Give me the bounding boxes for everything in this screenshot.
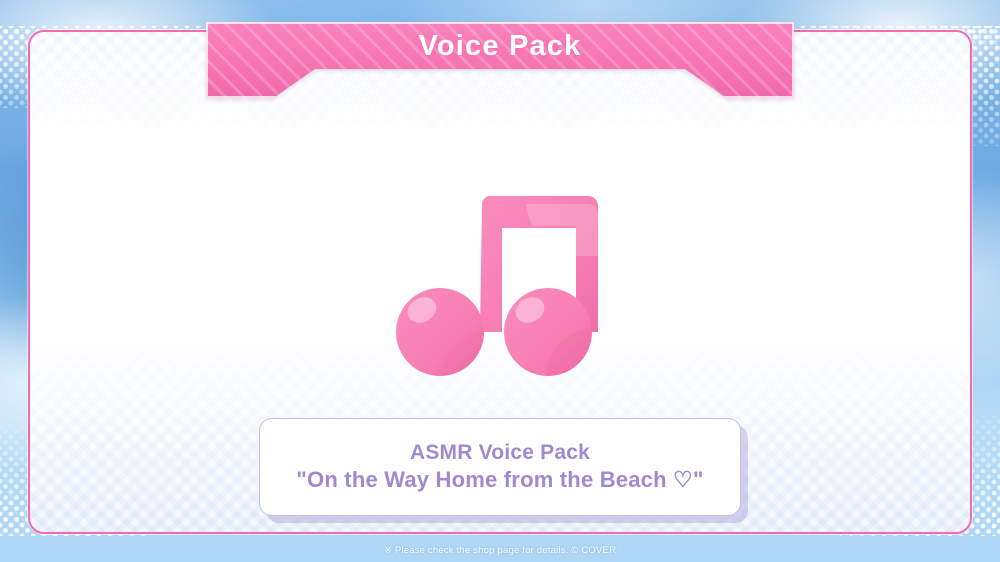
voice-pack-category-label: ASMR Voice Pack [410,440,590,466]
voice-pack-announcement-screen: ASMR Voice Pack "On the Way Home from th… [0,0,1000,562]
banner-title: Voice Pack [206,30,794,63]
footer-disclaimer: ※ Please check the shop page for details… [0,545,1000,556]
voice-pack-title-box: ASMR Voice Pack "On the Way Home from th… [259,418,741,516]
voice-pack-title-label: "On the Way Home from the Beach ♡" [296,467,703,494]
music-note-icon [396,190,604,376]
voice-pack-ribbon-banner: Voice Pack [206,22,794,98]
main-card-panel: ASMR Voice Pack "On the Way Home from th… [28,30,972,534]
